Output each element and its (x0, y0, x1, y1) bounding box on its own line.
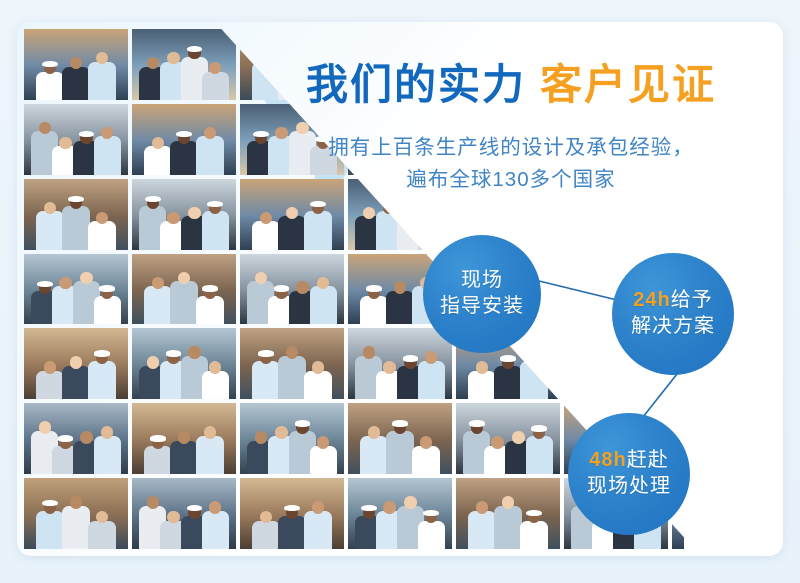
bubble-3-line-1: 48h赶赴 (589, 448, 668, 474)
title-orange-text: 客户见证 (540, 61, 716, 108)
showcase-card: 我们的实力客户见证 拥有上百条生产线的设计及承包经验， 遍布全球130多个国家 … (17, 22, 783, 556)
bubble-24h-solution[interactable]: 24h给予 解决方案 (612, 253, 734, 375)
bubble-1-line-1: 现场 (461, 268, 503, 294)
bubble-2-line-2: 解决方案 (631, 314, 715, 340)
bubble-1-line-2: 指导安装 (440, 294, 524, 320)
page-subtitle: 拥有上百条生产线的设计及承包经验， 遍布全球130多个国家 (281, 132, 741, 196)
subtitle-line-2: 遍布全球130多个国家 (281, 164, 741, 196)
bubble-48h-onsite[interactable]: 48h赶赴 现场处理 (568, 413, 690, 535)
bubble-3-line-2: 现场处理 (587, 474, 671, 500)
bubble-on-site-guidance[interactable]: 现场 指导安装 (423, 235, 541, 353)
title-blue-text: 我们的实力 (306, 61, 526, 108)
bubble-2-highlight: 24h (633, 289, 670, 311)
bubble-3-highlight: 48h (589, 449, 626, 471)
subtitle-line-1: 拥有上百条生产线的设计及承包经验， (281, 132, 741, 164)
bubble-2-line-1: 24h给予 (633, 288, 712, 314)
page-title: 我们的实力客户见证 (281, 64, 741, 106)
